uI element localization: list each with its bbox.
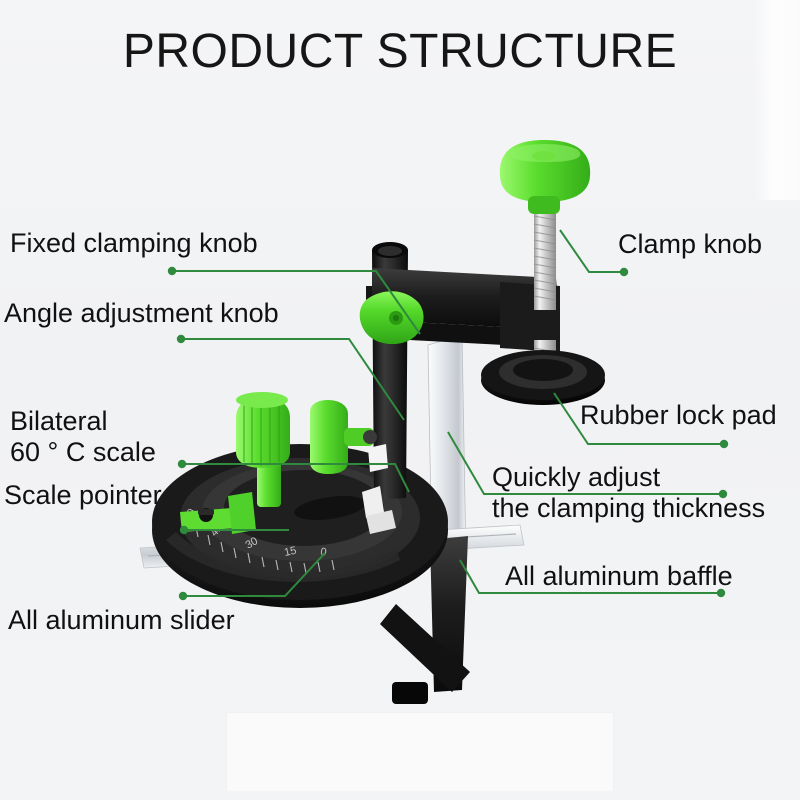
callout-label-angle-adjustment-knob: Angle adjustment knob xyxy=(4,298,279,329)
rubber-lock-pad xyxy=(481,350,605,405)
callout-label-clamp-knob: Clamp knob xyxy=(618,229,762,260)
callout-label-fixed-clamping-knob: Fixed clamping knob xyxy=(10,228,258,259)
callout-label-scale-pointer: Scale pointer xyxy=(4,480,162,511)
clamp-knob xyxy=(500,140,590,214)
callout-label-all-aluminum-slider: All aluminum slider xyxy=(8,605,235,636)
page-title: PRODUCT STRUCTURE xyxy=(0,24,800,79)
callout-label-bilateral-60c-scale: Bilateral 60 ° C scale xyxy=(10,406,156,468)
callout-label-quickly-adjust: Quickly adjust the clamping thickness xyxy=(492,462,765,524)
fixed-clamping-knob xyxy=(360,291,424,344)
callout-label-rubber-lock-pad: Rubber lock pad xyxy=(580,400,777,431)
svg-text:15: 15 xyxy=(283,545,297,559)
product-structure-diagram: 60 45 30 15 0 xyxy=(0,0,800,800)
callout-label-all-aluminum-baffle: All aluminum baffle xyxy=(505,561,733,592)
